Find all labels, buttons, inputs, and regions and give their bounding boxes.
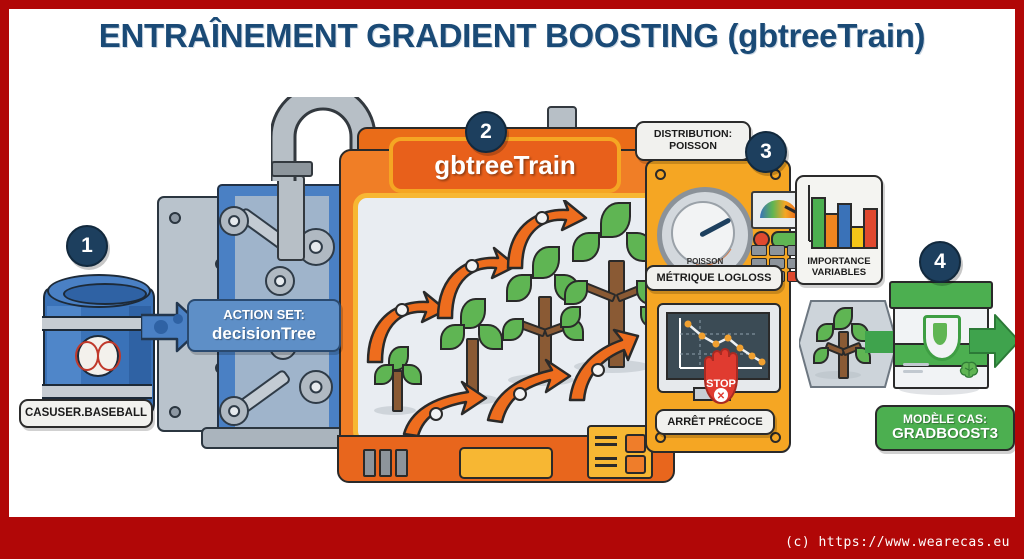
pipe-flange-left (271, 161, 313, 177)
distribution-callout: DISTRIBUTION: POISSON (635, 121, 751, 161)
action-set-prefix: ACTION SET: (223, 307, 305, 322)
machine-indicator-panel (587, 425, 653, 479)
step-badge-1: 1 (66, 225, 108, 267)
boosting-display (353, 193, 663, 445)
stop-hand-icon: STOP ✕ (697, 343, 751, 405)
shield-icon (923, 315, 961, 361)
importance-label: IMPORTANCE VARIABLES (797, 257, 881, 279)
barrel-band-bottom (42, 384, 152, 399)
barrel-top-inner (63, 283, 147, 305)
gbtree-train-machine: gbtreeTrain (339, 149, 669, 469)
arm-pivot-icon (219, 396, 249, 426)
importance-label-line1: IMPORTANCE (807, 256, 870, 267)
action-set-label: ACTION SET: decisionTree (187, 299, 341, 352)
metric-label: MÉTRIQUE LOGLOSS (645, 265, 783, 291)
distribution-callout-line2: POISSON (669, 140, 717, 152)
infographic-frame: ENTRAÎNEMENT GRADIENT BOOSTING (gbtreeTr… (0, 0, 1024, 559)
model-box-lines (903, 363, 929, 377)
machine-foot (201, 427, 349, 449)
distribution-callout-line1: DISTRIBUTION: (654, 128, 732, 140)
barrel-band-top (42, 316, 152, 331)
boost-arrow-icon (402, 380, 488, 438)
footer-bar: (c) https://www.wearecas.eu (0, 517, 1024, 559)
svg-text:✕: ✕ (717, 391, 725, 402)
model-label-line2: GRADBOOST3 (892, 425, 998, 442)
boost-arrow-icon (504, 200, 588, 272)
model-box-lid (889, 281, 993, 309)
importance-bar (863, 208, 878, 249)
baseball-icon (77, 335, 119, 377)
data-source-label: CASUSER.BASEBALL (19, 399, 153, 428)
variable-importance-card: IMPORTANCE VARIABLES (795, 175, 883, 285)
boost-arrow-icon (486, 358, 572, 424)
infographic-canvas: ENTRAÎNEMENT GRADIENT BOOSTING (gbtreeTr… (9, 9, 1015, 517)
gbtree-plaque: gbtreeTrain (389, 137, 621, 193)
arm-pivot-icon (219, 206, 249, 236)
step-badge-3: 3 (745, 131, 787, 173)
gear-icon (299, 370, 333, 404)
importance-label-line2: VARIABLES (812, 267, 866, 278)
page-title: ENTRAÎNEMENT GRADIENT BOOSTING (gbtreeTr… (9, 17, 1015, 55)
shield-inner (933, 323, 947, 345)
boost-arrow-icon (566, 326, 640, 404)
barrel-top (47, 274, 151, 308)
early-stop-label: ARRÊT PRÉCOCE (655, 409, 775, 435)
gear-icon (265, 266, 295, 296)
watermark: (c) https://www.wearecas.eu (785, 535, 1010, 550)
machine-hatch (459, 447, 553, 479)
pipe-left-down (277, 175, 305, 261)
step-badge-4: 4 (919, 241, 961, 283)
step-badge-2: 2 (465, 111, 507, 153)
model-output-label: MODÈLE CAS: GRADBOOST3 (875, 405, 1015, 451)
action-set-value: decisionTree (195, 324, 333, 343)
model-label-line1: MODÈLE CAS: (903, 412, 987, 426)
arrow-model-output (969, 311, 1015, 371)
